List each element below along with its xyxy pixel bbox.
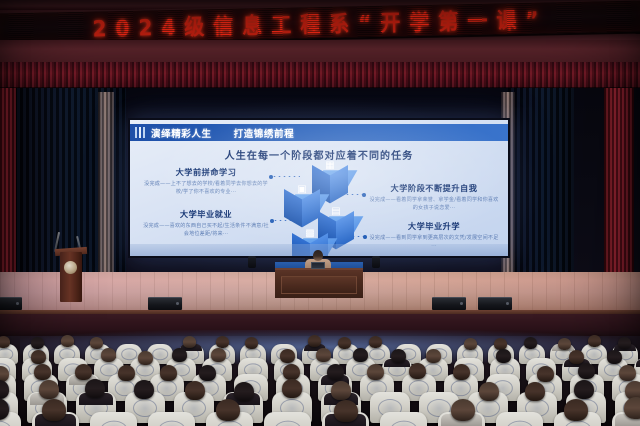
valance-pleats — [0, 62, 640, 90]
audience-member-head — [308, 335, 321, 347]
audience-member-head — [409, 363, 426, 379]
audience-member-head — [101, 348, 116, 362]
audience-member-head — [234, 382, 254, 401]
audience-member-head — [138, 351, 153, 365]
seat-emblem-icon — [215, 420, 243, 426]
audience-member-head — [34, 364, 51, 380]
audience-member-head — [558, 338, 571, 350]
audience-member-head — [90, 337, 103, 349]
audience-member-head — [245, 337, 258, 349]
stage-light-right — [372, 256, 380, 268]
audience-member-head — [118, 365, 135, 381]
seat-emblem-icon — [273, 420, 301, 426]
audience-seat — [264, 412, 311, 426]
audience-member-head — [327, 364, 344, 380]
person-card-icon: ▣ — [293, 181, 311, 199]
slide-block-top-left: 大学前拼命学习 没完成——上不了想去的学校/看着同学去你想去的学校/学了你不喜欢… — [142, 166, 270, 196]
audience-member-head — [211, 348, 226, 362]
audience-member-head — [391, 349, 406, 363]
slide-block-body: 没完成——上不了想去的学校/看着同学去你想去的学校/学了你不喜欢的专业··· — [142, 180, 270, 196]
audience-member-head — [280, 349, 295, 363]
side-curtain-red-right — [604, 88, 634, 278]
audience-member-head — [578, 363, 595, 379]
stage-light-left — [248, 256, 256, 268]
speaker-table — [275, 268, 363, 298]
audience-member-head — [494, 338, 507, 350]
audience-seat — [148, 412, 195, 426]
stage-curtain-right — [508, 88, 574, 276]
audience-member-head — [75, 364, 92, 380]
audience-member-head — [353, 348, 368, 362]
school-emblem-icon — [64, 261, 77, 274]
audience-member-head — [496, 349, 511, 363]
audience-seat — [380, 412, 427, 426]
audience-member-head — [524, 337, 537, 349]
seat-emblem-icon — [586, 349, 602, 361]
audience-member-head — [134, 380, 154, 399]
audience-member-head — [61, 335, 74, 347]
audience-member-head — [199, 365, 216, 381]
audience-member-head — [216, 399, 240, 421]
projection-screen: 演绎精彩人生 打造锦绣前程 人生在每一个阶段都对应着不同的任务 大学前拼命学习 … — [128, 118, 510, 258]
audience-member-head — [607, 350, 622, 364]
seat-emblem-icon — [157, 420, 185, 426]
curtain-pleats — [0, 88, 16, 278]
audience-member-head — [624, 397, 640, 419]
audience-member-head — [316, 348, 331, 362]
audience-member-head — [588, 335, 601, 347]
audience-member-head — [31, 337, 44, 349]
audience-member-head — [525, 382, 545, 401]
audience-member-head — [569, 350, 584, 364]
audience-member-head — [479, 382, 499, 401]
audience-member-head — [85, 379, 105, 398]
slide-block-body: 没完成——看着同学拿荣誉、拿学金/看着同学和你喜欢的女孩子说恋爱··· — [368, 196, 500, 212]
audience-member-head — [172, 348, 187, 362]
audience-member-head — [183, 336, 196, 348]
audience-seat — [496, 412, 543, 426]
slide-header-title-left: 演绎精彩人生 — [151, 126, 212, 140]
audience-member-head — [537, 366, 554, 382]
pale-curtain-left — [98, 92, 114, 272]
audience-member-head — [618, 337, 631, 349]
cube-cluster-graphic: ▦ ▣ ▤ ▩ — [278, 154, 374, 254]
audience-member-head — [619, 365, 636, 381]
audience-member-head — [464, 338, 477, 350]
lectern — [60, 252, 82, 302]
audience-member-head — [369, 336, 382, 348]
audience-seat — [90, 412, 137, 426]
audience-member-head — [216, 336, 229, 348]
stage-monitor-3 — [432, 297, 466, 310]
seat-emblem-icon — [389, 420, 417, 426]
cube-2: ▣ — [284, 180, 318, 214]
shield-icon: ▩ — [301, 225, 319, 243]
audience-member-head — [564, 399, 588, 421]
audience-member-head — [574, 380, 594, 399]
audience-area — [0, 314, 640, 426]
audience-member-head — [283, 364, 300, 380]
presenter-head — [313, 250, 323, 261]
slide-block-title: 大学阶段不断提升自我 — [368, 182, 500, 194]
slide-block-title: 大学毕业升学 — [368, 220, 500, 232]
seat-emblem-icon — [369, 349, 385, 361]
seat-emblem-icon — [99, 420, 127, 426]
presentation-slide: 演绎精彩人生 打造锦绣前程 人生在每一个阶段都对应着不同的任务 大学前拼命学习 … — [130, 120, 508, 256]
slide-block-body: 没完成——喜欢的东西自己买不起/生活条件不满意/社会地位差距/将来··· — [142, 222, 270, 238]
slide-block-title: 大学毕业就业 — [142, 208, 270, 220]
slide-block-title: 大学前拼命学习 — [142, 166, 270, 178]
side-curtain-red-left — [0, 88, 16, 278]
seat-emblem-icon — [505, 420, 533, 426]
audience-member-head — [42, 399, 66, 421]
slide-header-bar: 演绎精彩人生 打造锦绣前程 — [130, 124, 508, 141]
audience-member-head — [334, 400, 358, 422]
audience-member-head — [282, 379, 302, 398]
audience-member-head — [453, 364, 470, 380]
curtain-pleats — [604, 88, 634, 278]
grid-icon: ▦ — [321, 157, 339, 175]
table-front-panel — [281, 276, 357, 294]
audience-member-shoulders — [636, 359, 640, 367]
audience-member-head — [39, 380, 59, 399]
stage-valance — [0, 62, 640, 90]
audience-member-head — [367, 364, 384, 380]
audience-member-head — [451, 399, 475, 421]
header-bars-icon — [135, 127, 145, 138]
seat-emblem-icon — [136, 363, 154, 376]
audience-member-head — [426, 349, 441, 363]
audience-member-head — [31, 350, 46, 364]
slide-header-title-right: 打造锦绣前程 — [234, 126, 295, 140]
audience-member-head — [331, 381, 351, 400]
curtain-pleats — [508, 88, 574, 276]
stage-monitor-2 — [148, 297, 182, 310]
chat-icon: ▤ — [327, 203, 345, 221]
slide-block-top-right: 大学阶段不断提升自我 没完成——看着同学拿荣誉、拿学金/看着同学和你喜欢的女孩子… — [368, 182, 500, 212]
audience-member-head — [160, 365, 177, 381]
seat-emblem-icon — [563, 420, 591, 426]
auditorium-scene: 2024级信息工程系“开学第一课” 演绎精彩人生 打造锦绣前程 人生在每一个阶段… — [0, 0, 640, 426]
stage-monitor-1 — [0, 297, 22, 310]
curtain-pleats — [98, 92, 114, 272]
audience-member-head — [0, 336, 10, 348]
stage-monitor-4 — [478, 297, 512, 310]
laptop-icon — [311, 262, 325, 269]
audience-member-head — [338, 337, 351, 349]
audience-member-head — [185, 381, 205, 400]
seat-emblem-icon — [0, 420, 12, 426]
slide-block-bottom-left: 大学毕业就业 没完成——喜欢的东西自己买不起/生活条件不满意/社会地位差距/将来… — [142, 208, 270, 238]
